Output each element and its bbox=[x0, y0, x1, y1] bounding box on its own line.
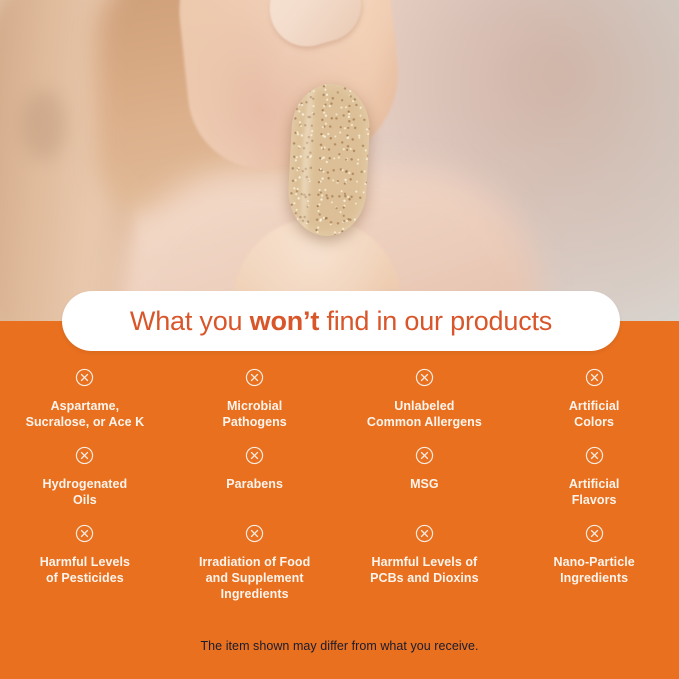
circle-x-icon bbox=[245, 446, 264, 465]
circle-x-icon bbox=[75, 368, 94, 387]
product-photo bbox=[0, 0, 679, 321]
claim-item-label: Parabens bbox=[226, 476, 283, 492]
claim-item: Harmful Levels of Pesticides bbox=[0, 524, 170, 602]
headline-pill: What you won’t find in our products bbox=[62, 291, 620, 351]
circle-x-icon bbox=[75, 446, 94, 465]
claim-item: Unlabeled Common Allergens bbox=[340, 368, 510, 430]
claim-item: Harmful Levels of PCBs and Dioxins bbox=[340, 524, 510, 602]
disclaimer-note: The item shown may differ from what you … bbox=[0, 639, 679, 653]
claim-item-label: Aspartame, Sucralose, or Ace K bbox=[26, 398, 145, 430]
claim-item-label: Harmful Levels of Pesticides bbox=[40, 554, 130, 586]
headline-part-before: What you bbox=[130, 306, 250, 336]
circle-x-icon bbox=[245, 524, 264, 543]
claim-item-label: Irradiation of Food and Supplement Ingre… bbox=[199, 554, 310, 602]
circle-x-icon bbox=[585, 446, 604, 465]
claim-item: Nano-Particle Ingredients bbox=[509, 524, 679, 602]
claim-item: Parabens bbox=[170, 446, 340, 508]
circle-x-icon bbox=[415, 446, 434, 465]
page-title: What you won’t find in our products bbox=[130, 306, 552, 337]
claims-grid: Aspartame, Sucralose, or Ace KMicrobial … bbox=[0, 368, 679, 602]
circle-x-icon bbox=[585, 524, 604, 543]
claim-item: Artificial Flavors bbox=[509, 446, 679, 508]
headline-emphasis: won’t bbox=[250, 306, 319, 336]
headline-part-after: find in our products bbox=[319, 306, 552, 336]
circle-x-icon bbox=[75, 524, 94, 543]
claim-item: Microbial Pathogens bbox=[170, 368, 340, 430]
claim-item-label: Nano-Particle Ingredients bbox=[554, 554, 635, 586]
claim-item-label: MSG bbox=[410, 476, 439, 492]
claim-item-label: Microbial Pathogens bbox=[222, 398, 286, 430]
claim-item: Artificial Colors bbox=[509, 368, 679, 430]
claim-item-label: Artificial Flavors bbox=[569, 476, 620, 508]
infographic-canvas: What you won’t find in our products Aspa… bbox=[0, 0, 679, 679]
claim-item-label: Harmful Levels of PCBs and Dioxins bbox=[370, 554, 478, 586]
claim-item-label: Artificial Colors bbox=[569, 398, 620, 430]
claim-item: Hydrogenated Oils bbox=[0, 446, 170, 508]
claim-item-label: Hydrogenated Oils bbox=[43, 476, 128, 508]
supplement-tablet bbox=[286, 82, 372, 238]
claim-item: Irradiation of Food and Supplement Ingre… bbox=[170, 524, 340, 602]
claim-item-label: Unlabeled Common Allergens bbox=[367, 398, 482, 430]
claim-item: Aspartame, Sucralose, or Ace K bbox=[0, 368, 170, 430]
circle-x-icon bbox=[585, 368, 604, 387]
circle-x-icon bbox=[415, 368, 434, 387]
circle-x-icon bbox=[415, 524, 434, 543]
circle-x-icon bbox=[245, 368, 264, 387]
claim-item: MSG bbox=[340, 446, 510, 508]
